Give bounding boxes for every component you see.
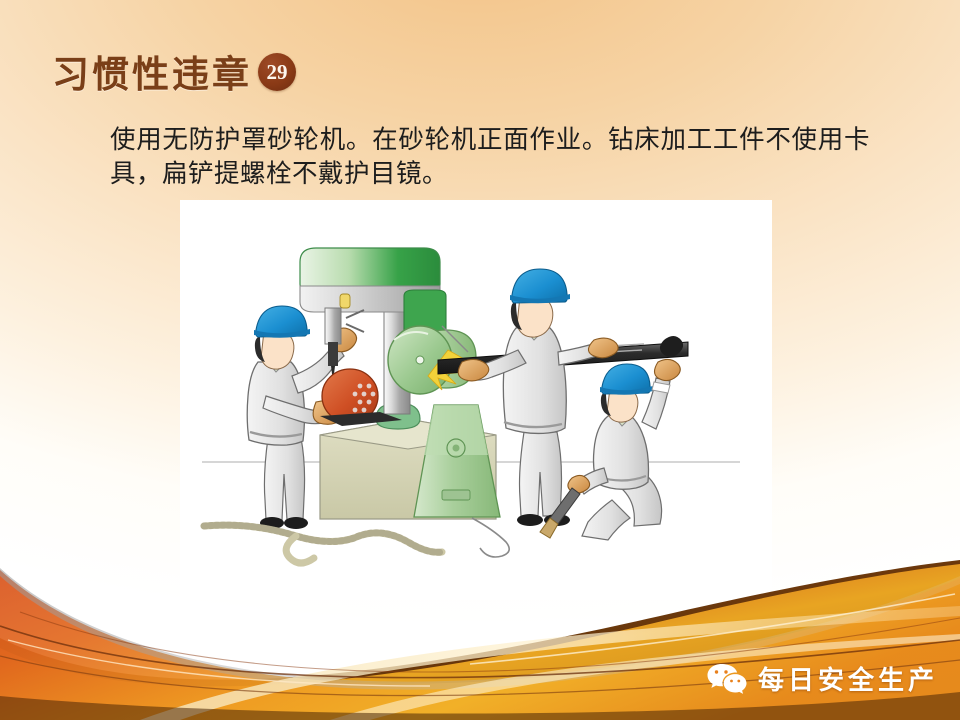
badge-number: 29 [258, 53, 296, 91]
footer-brand: 每日安全生产 [706, 658, 938, 698]
wechat-icon [706, 662, 748, 694]
brand-name: 每日安全生产 [758, 660, 938, 697]
status-badge: 29 [258, 53, 296, 91]
slide-header: 习惯性违章 29 [0, 0, 960, 110]
page-title: 习惯性违章 [52, 44, 252, 98]
body-paragraph: 使用无防护罩砂轮机。在砂轮机正面作业。钻床加工工件不使用卡具，扁铲提螺栓不戴护目… [110, 123, 870, 191]
slide-root: 习惯性违章 29 使用无防护罩砂轮机。在砂轮机正面作业。钻床加工工件不使用卡具，… [0, 0, 960, 720]
